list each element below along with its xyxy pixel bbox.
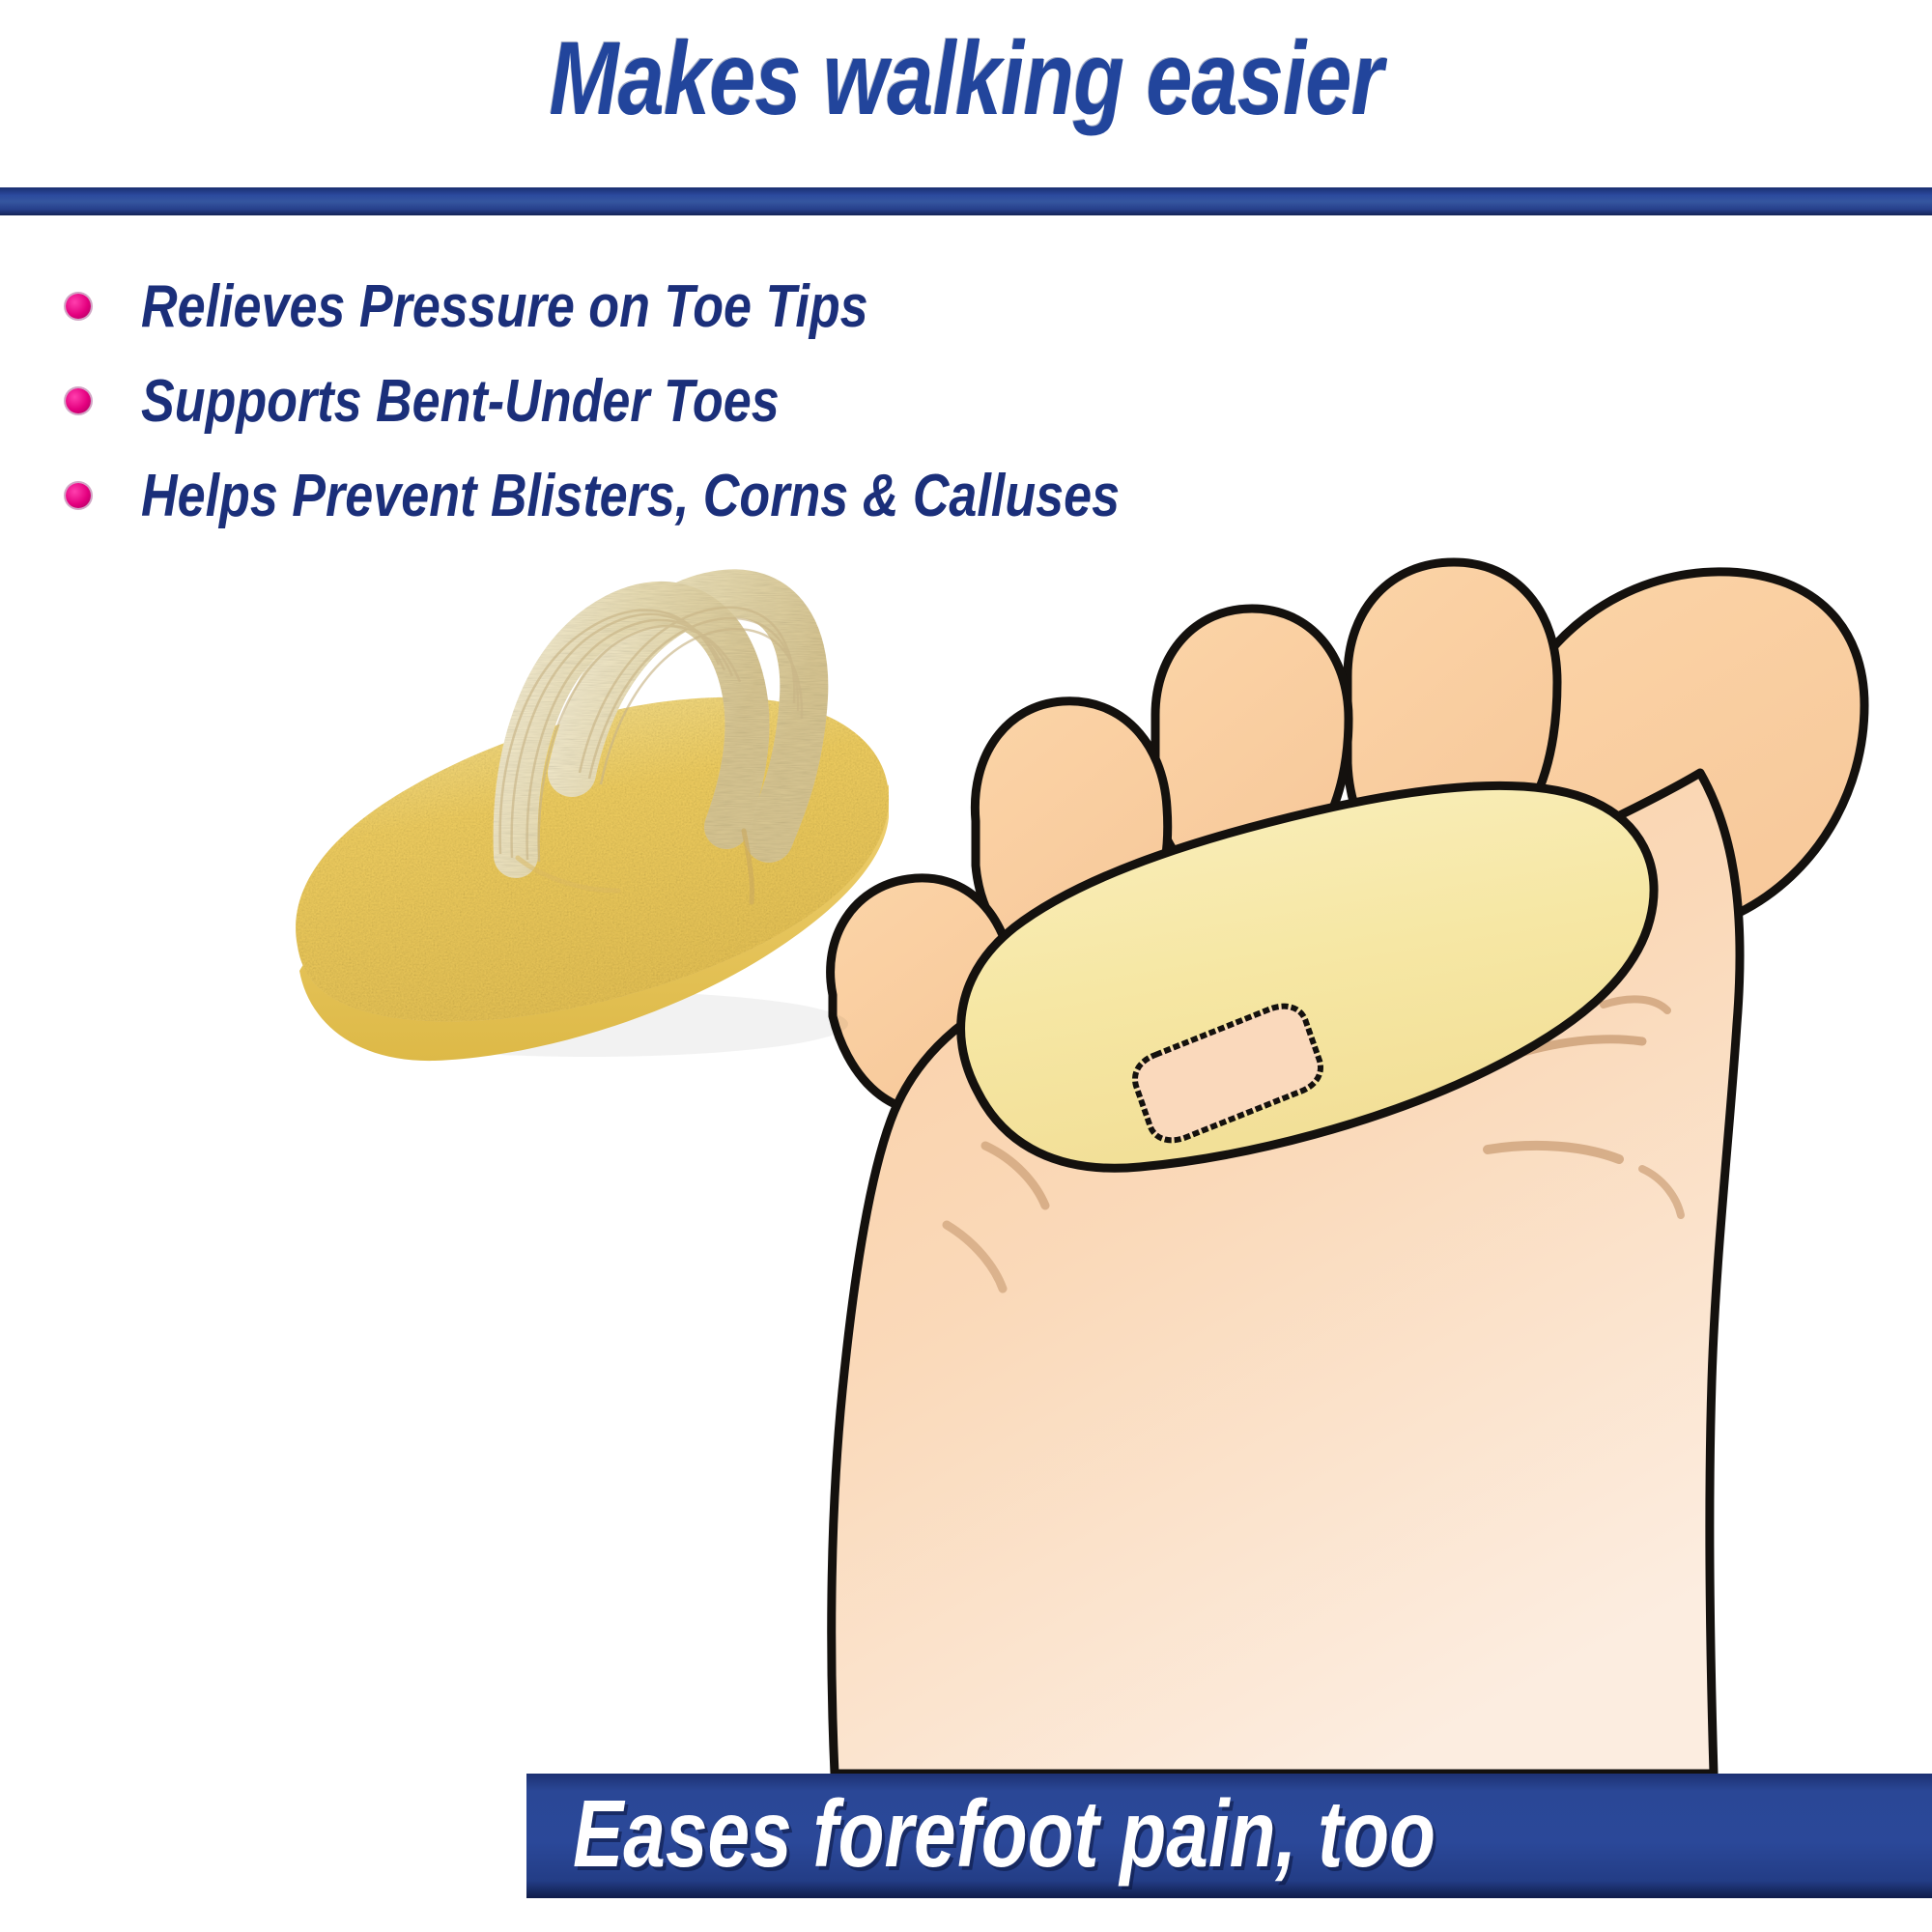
- foot-sole-body: [832, 773, 1740, 1774]
- foot-toe-big: [1499, 572, 1864, 931]
- foot-toe-little: [831, 878, 1014, 1111]
- header-divider-bar: [0, 187, 1932, 215]
- list-item: Helps Prevent Blisters, Corns & Calluses: [60, 448, 1316, 543]
- toe-loop-slot: [1135, 1007, 1321, 1141]
- footer-banner: Eases forefoot pain, too: [526, 1774, 1932, 1898]
- bullet-dot-icon: [66, 294, 91, 319]
- cushion-foam-side: [299, 784, 889, 1061]
- cushion-elastic-loop-back: [572, 593, 804, 838]
- foot-sole-diagram: [831, 562, 1864, 1774]
- toe-crest-pad-on-foot: [961, 785, 1654, 1168]
- bullet-dot-icon: [66, 388, 91, 413]
- cushion-elastic-loop-front: [516, 604, 748, 856]
- list-item: Supports Bent-Under Toes: [60, 354, 1316, 448]
- benefit-label: Supports Bent-Under Toes: [141, 367, 780, 436]
- bullet-dot-icon: [66, 483, 91, 508]
- benefit-label: Relieves Pressure on Toe Tips: [141, 272, 868, 341]
- cushion-elastic-ribs: [500, 608, 803, 862]
- list-item: Relieves Pressure on Toe Tips: [60, 259, 1316, 354]
- foot-toe-second: [1348, 562, 1557, 873]
- foot-skin-creases: [947, 999, 1681, 1289]
- cushion-strap-seam: [744, 831, 753, 902]
- benefits-list: Relieves Pressure on Toe Tips Supports B…: [60, 259, 1316, 543]
- cushion-foam-top: [296, 697, 889, 1022]
- benefit-label: Helps Prevent Blisters, Corns & Calluses: [141, 462, 1120, 530]
- footer-tagline: Eases forefoot pain, too: [573, 1779, 1435, 1889]
- cushion-foam-fold: [518, 858, 618, 891]
- foot-toe-third: [1155, 609, 1349, 884]
- toe-crest-cushion-photo: [296, 593, 889, 1061]
- foot-toe-fourth: [975, 701, 1167, 964]
- page-title: Makes walking easier: [193, 17, 1739, 138]
